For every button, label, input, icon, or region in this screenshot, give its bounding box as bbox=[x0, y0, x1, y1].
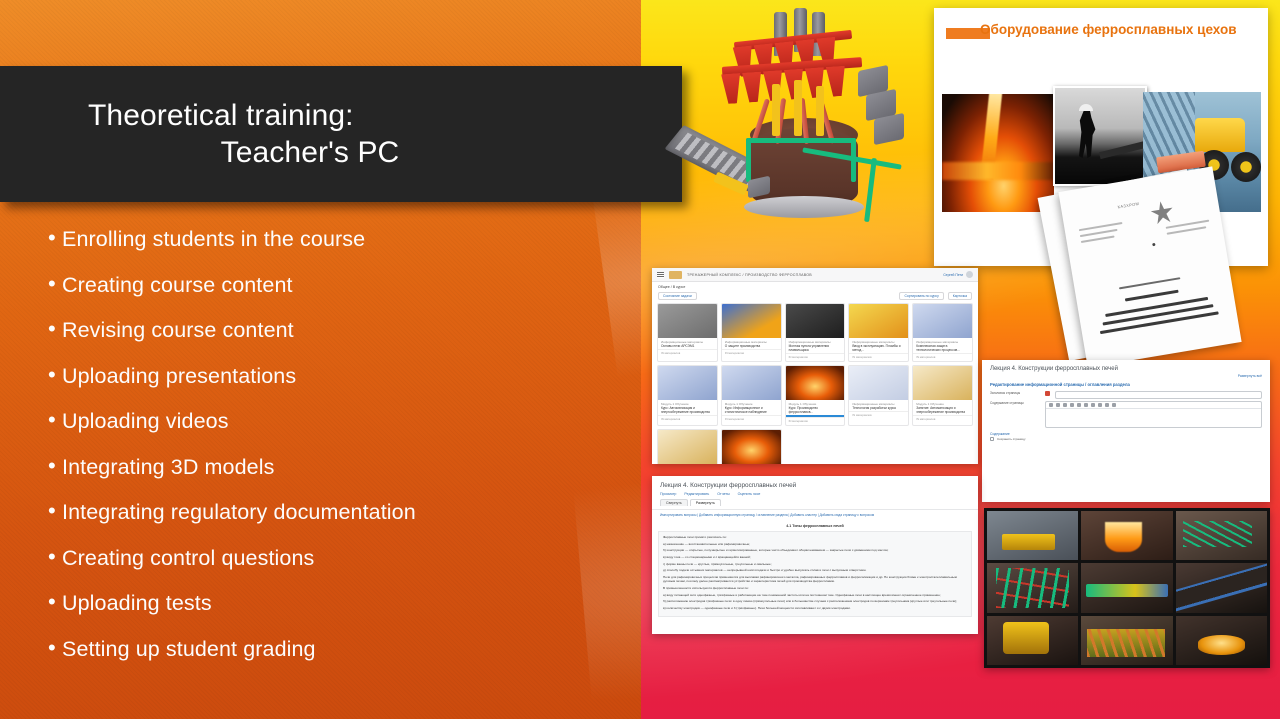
paragraph: г) форме ванны печи — круглые, прямоугол… bbox=[663, 562, 967, 567]
filter-bar: Состояние задачи Сортировать по курсу Ка… bbox=[652, 292, 978, 303]
list-item-label: Integrating 3D models bbox=[62, 457, 274, 479]
bullet-icon: • bbox=[48, 637, 62, 659]
list-item: • Revising course content bbox=[48, 319, 623, 365]
render-grid-screenshot bbox=[984, 508, 1270, 668]
tab-edit[interactable]: Редактировать bbox=[684, 492, 709, 496]
page-title: Лекция 4. Конструкции ферросплавных пече… bbox=[652, 476, 978, 492]
checkbox-label: Сохранить страницу bbox=[997, 437, 1026, 441]
slide-title-plaque: Theoretical training: Teacher's PC bbox=[0, 66, 682, 202]
list-item[interactable]: Информационные материалы Комплексная защ… bbox=[912, 303, 973, 362]
electrode-column bbox=[794, 80, 802, 136]
form-row-page-title: Заголовок страницы 4.1 Типы ферросплавны… bbox=[982, 390, 1270, 400]
card-footer: IN материалов bbox=[913, 353, 972, 361]
action-links[interactable]: Импортировать вопросы | Добавить информа… bbox=[652, 509, 978, 520]
hopper bbox=[742, 72, 763, 103]
list-item-label: Integrating regulatory documentation bbox=[62, 502, 416, 524]
card-thumbnail bbox=[658, 430, 717, 464]
card-title: Курс: Производство ферросплавов... bbox=[789, 406, 842, 414]
document-kind-line bbox=[1119, 277, 1180, 289]
paragraph: а) виду питающей сети однофазные, трёхфа… bbox=[663, 593, 967, 598]
list-item: • Uploading tests bbox=[48, 592, 623, 638]
page-title-input[interactable]: 4.1 Типы ферросплавных печей bbox=[1055, 391, 1262, 399]
paragraph: б) конструкции — открытые, полузакрытые … bbox=[663, 548, 967, 553]
editor-toolbar[interactable] bbox=[1046, 402, 1261, 409]
tab-reports[interactable]: Отчеты bbox=[717, 492, 729, 496]
list-item-label: Uploading tests bbox=[62, 593, 212, 615]
render-cell-ladle-transfer-car bbox=[987, 511, 1078, 560]
filter-status-dropdown[interactable]: Состояние задачи bbox=[658, 292, 697, 300]
worker-figure bbox=[1077, 110, 1097, 158]
page-title: Лекция 4. Конструкции ферросплавных пече… bbox=[982, 360, 1270, 374]
list-item[interactable]: Информационные материалы Технология разр… bbox=[848, 365, 909, 426]
furnace-base bbox=[744, 196, 864, 218]
lecture-content: Ферросплавные печи принято различать по:… bbox=[658, 531, 972, 617]
card-thumbnail bbox=[849, 366, 908, 400]
lms-page-editor-screenshot: Лекция 4. Конструкции ферросплавных пече… bbox=[982, 360, 1270, 502]
user-menu[interactable]: Сергей Пети bbox=[943, 271, 973, 278]
card-thumbnail bbox=[722, 430, 781, 464]
list-item[interactable]: Модуль 1 Экзамен Занятие: Информационное… bbox=[657, 429, 718, 464]
bullet-icon: • bbox=[48, 273, 62, 295]
card-title: Основы печи АРСЭМ1 bbox=[661, 344, 714, 348]
italic-icon[interactable] bbox=[1056, 403, 1060, 407]
list-item-label: Creating course content bbox=[62, 275, 293, 297]
card-title: Комплексная защита технологических проце… bbox=[916, 344, 969, 352]
subtab-expanded[interactable]: Развернуть bbox=[690, 499, 721, 506]
save-page-checkbox-row[interactable]: Сохранить страницу bbox=[982, 436, 1270, 442]
card-thumbnail bbox=[658, 304, 717, 338]
card-footer: IN материалов bbox=[722, 349, 781, 357]
list-item: • Enrolling students in the course bbox=[48, 228, 623, 274]
bullet-list: • Enrolling students in the course • Cre… bbox=[48, 228, 623, 683]
card-title: Ввод в эксплуатацию. Пломбы и метод... bbox=[852, 344, 905, 352]
paragraph: В промышленности используются ферросплав… bbox=[663, 586, 967, 591]
render-cell-green-pipework bbox=[1176, 511, 1267, 560]
lms-top-bar: ТРЕНАЖЕРНЫЙ КОМПЛЕКС / ПРОИЗВОДСТВО ФЕРР… bbox=[652, 268, 978, 282]
list-item: • Creating course content bbox=[48, 274, 623, 320]
card-footer: IN материалов bbox=[786, 417, 845, 425]
conveyor-belt bbox=[1099, 140, 1147, 159]
paragraph: д) способу подачи остывших материалов — … bbox=[663, 568, 967, 573]
lms-lecture-screenshot: Лекция 4. Конструкции ферросплавных пече… bbox=[652, 476, 978, 634]
list-item[interactable]: Модуль 1 Обучение Курс: Автоматизация и … bbox=[657, 365, 718, 426]
list-item[interactable]: Информационные материалы Ввод в эксплуат… bbox=[848, 303, 909, 362]
kazchrome-logo-icon bbox=[1149, 200, 1174, 225]
support-frame bbox=[746, 138, 751, 182]
card-footer: IN материалов bbox=[849, 353, 908, 361]
dust-collector bbox=[874, 113, 904, 145]
list-item-label: Uploading videos bbox=[62, 411, 229, 433]
list-item: • Creating control questions bbox=[48, 547, 623, 593]
list-item[interactable]: Модуль 1 Обучение Курс: Информационное и… bbox=[721, 365, 782, 426]
subtab-bar: Свернуть Развернуть bbox=[652, 498, 978, 509]
rich-text-editor[interactable] bbox=[1045, 401, 1262, 428]
card-footer: IN материалов bbox=[722, 415, 781, 423]
card-title: Курс: Автоматизация и энергосбережение п… bbox=[661, 406, 714, 414]
regulatory-document-stack: КАЗХРОМ bbox=[1036, 172, 1272, 354]
undo-icon[interactable] bbox=[1112, 403, 1116, 407]
bullet-icon: • bbox=[48, 591, 62, 613]
required-marker-icon bbox=[1045, 391, 1050, 396]
paragraph: б) расположению электродов трёхфазные пе… bbox=[663, 599, 967, 604]
paragraph: Печи для рафинировочных процессов примен… bbox=[663, 575, 967, 584]
breadcrumb: ТРЕНАЖЕРНЫЙ КОМПЛЕКС / ПРОИЗВОДСТВО ФЕРР… bbox=[687, 273, 812, 277]
user-name: Сергей Пети bbox=[943, 273, 963, 277]
hopper bbox=[826, 66, 847, 97]
card-title: Курс: Информационное и статистическое на… bbox=[725, 406, 778, 414]
card-title: Монтаж пульта управления плавильщика bbox=[789, 344, 842, 352]
field-label: Заголовок страницы bbox=[990, 391, 1040, 395]
list-item: • Uploading videos bbox=[48, 410, 623, 456]
document-code-line bbox=[1125, 290, 1179, 301]
card-thumbnail bbox=[658, 366, 717, 400]
card-title: Занятие: Автоматизация и энергосбережени… bbox=[916, 406, 969, 414]
card-thumbnail bbox=[786, 304, 845, 338]
render-cell-charging-conveyor bbox=[1081, 563, 1172, 612]
list-item[interactable]: Информационные материалы Монтаж пульта у… bbox=[785, 303, 846, 362]
editor-content[interactable] bbox=[1046, 407, 1052, 428]
document-org-name: КАЗХРОМ bbox=[1117, 201, 1139, 210]
view-controls: Сортировать по курсу Карточка bbox=[899, 292, 972, 300]
list-item[interactable]: Модуль 1 Обучение Занятие: Автоматизация… bbox=[912, 365, 973, 426]
lms-course-grid-screenshot: ТРЕНАЖЕРНЫЙ КОМПЛЕКС / ПРОИЗВОДСТВО ФЕРР… bbox=[652, 268, 978, 464]
hamburger-menu-icon[interactable] bbox=[657, 272, 664, 278]
list-item: • Integrating 3D models bbox=[48, 456, 623, 502]
form-row-content: Содержание страницы bbox=[982, 400, 1270, 429]
avatar bbox=[966, 271, 973, 278]
loader-cab bbox=[1195, 118, 1245, 152]
course-card-grid: Информационные материалы Основы печи АРС… bbox=[652, 303, 978, 464]
view-mode-dropdown[interactable]: Карточка bbox=[948, 292, 972, 300]
list-item[interactable]: Информационные материалы О защите произв… bbox=[721, 303, 782, 362]
image-icon[interactable] bbox=[1091, 403, 1095, 407]
list-item[interactable]: Модуль 1 Обучение Курс: Производство фер… bbox=[785, 365, 846, 426]
presentation-title: Оборудование ферросплавных цехов bbox=[980, 22, 1258, 39]
paragraph: а) назначению — восстановительные или ра… bbox=[663, 542, 967, 547]
media-icon[interactable] bbox=[1098, 403, 1102, 407]
card-thumbnail bbox=[849, 304, 908, 338]
card-footer: IN материалов bbox=[786, 353, 845, 361]
render-cell-molten-ladle bbox=[1176, 616, 1267, 665]
support-frame bbox=[864, 158, 877, 222]
list-item: • Setting up student grading bbox=[48, 638, 623, 684]
field-label: Содержание страницы bbox=[990, 401, 1040, 405]
card-footer: IN материалов bbox=[913, 415, 972, 423]
table-icon[interactable] bbox=[1105, 403, 1109, 407]
bullet-icon: • bbox=[48, 455, 62, 477]
document-bullet bbox=[1152, 243, 1155, 246]
page-title: Theoretical training: bbox=[88, 97, 652, 134]
electrode-column bbox=[816, 86, 824, 136]
render-cell-ore-belt bbox=[1176, 563, 1267, 612]
render-cell-metal-pouring bbox=[1081, 511, 1172, 560]
hopper bbox=[721, 73, 742, 104]
bullet-icon: • bbox=[48, 318, 62, 340]
link-icon[interactable] bbox=[1077, 403, 1081, 407]
paragraph: в) количеству электродов — однофазные пе… bbox=[663, 606, 967, 611]
list-item[interactable]: Модуль 1 Экзамен Занятие: Производство ф… bbox=[721, 429, 782, 464]
render-cell-gas-offtake bbox=[987, 563, 1078, 612]
furnace-3d-model-image bbox=[662, 6, 924, 264]
list-item[interactable]: Информационные материалы Основы печи АРС… bbox=[657, 303, 718, 362]
tab-grade-essays[interactable]: Оценить эссе bbox=[738, 492, 761, 496]
checkbox[interactable] bbox=[990, 437, 994, 441]
card-thumbnail bbox=[913, 366, 972, 400]
content-section-link[interactable]: Содержание bbox=[982, 429, 1270, 436]
render-cell-transformer-bay bbox=[987, 616, 1078, 665]
card-thumbnail bbox=[786, 366, 845, 400]
list-item-label: Uploading presentations bbox=[62, 366, 296, 388]
page-subtitle: Teacher's PC bbox=[88, 134, 652, 171]
bullet-icon: • bbox=[48, 546, 62, 568]
section-heading: Редактирование информационной страницы /… bbox=[982, 380, 1270, 390]
card-footer: IN материалов bbox=[849, 411, 908, 419]
paragraph: Ферросплавные печи принято различать по: bbox=[663, 535, 967, 540]
card-thumbnail bbox=[722, 366, 781, 400]
list-item: • Integrating regulatory documentation bbox=[48, 501, 623, 547]
subtab-collapsed[interactable]: Свернуть bbox=[660, 499, 688, 506]
paragraph: в) виду тока — со стационарными и с вращ… bbox=[663, 555, 967, 560]
lms-logo-icon[interactable] bbox=[669, 271, 682, 279]
photo-worker-silhouette bbox=[1053, 86, 1147, 186]
list-item-label: Creating control questions bbox=[62, 548, 314, 570]
document-page-front: КАЗХРОМ bbox=[1058, 166, 1241, 367]
sort-dropdown[interactable]: Сортировать по курсу bbox=[899, 292, 943, 300]
card-title: Технология разработки курса bbox=[852, 406, 905, 410]
numbered-list-icon[interactable] bbox=[1070, 403, 1074, 407]
helmet-icon bbox=[1079, 104, 1093, 111]
card-title: О защите производства bbox=[725, 344, 778, 348]
presentation-slide: Theoretical training: Teacher's PC • Enr… bbox=[0, 0, 1280, 719]
section-label: Общее / В курсе bbox=[652, 282, 978, 292]
card-thumbnail bbox=[913, 304, 972, 338]
document-line bbox=[1081, 235, 1115, 243]
question-header: 4.1 Типы ферросплавных печей bbox=[652, 520, 978, 531]
electrode-column bbox=[772, 84, 780, 136]
card-footer: IN материалов bbox=[658, 415, 717, 423]
render-cell-electrode-holder bbox=[1081, 616, 1172, 665]
bullet-icon: • bbox=[48, 500, 62, 522]
list-item-label: Revising course content bbox=[62, 320, 294, 342]
tab-preview[interactable]: Просмотр bbox=[660, 492, 676, 496]
bullet-icon: • bbox=[48, 409, 62, 431]
list-item-label: Enrolling students in the course bbox=[62, 229, 365, 251]
support-frame bbox=[746, 138, 856, 143]
bullet-icon: • bbox=[48, 364, 62, 386]
card-thumbnail bbox=[722, 304, 781, 338]
unlink-icon[interactable] bbox=[1084, 403, 1088, 407]
bold-icon[interactable] bbox=[1049, 403, 1053, 407]
list-item: • Uploading presentations bbox=[48, 365, 623, 411]
card-footer: IN материалов bbox=[658, 349, 717, 357]
list-item-label: Setting up student grading bbox=[62, 639, 316, 661]
bullet-list-icon[interactable] bbox=[1063, 403, 1067, 407]
bullet-icon: • bbox=[48, 227, 62, 249]
